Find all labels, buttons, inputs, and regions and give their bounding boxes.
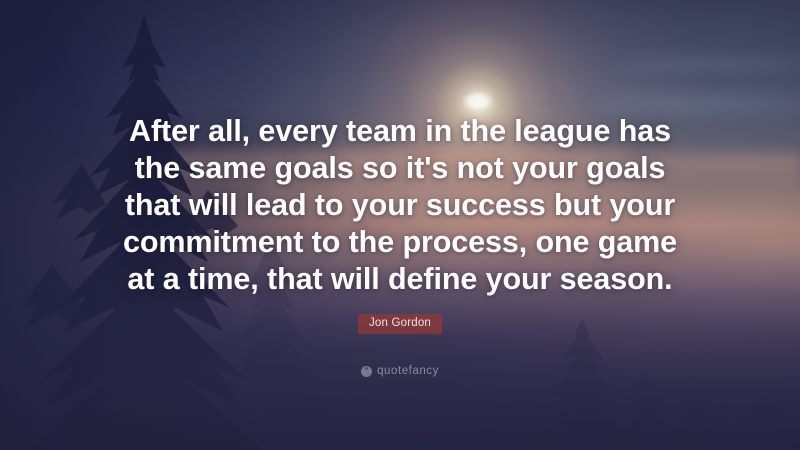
quote-line: the same goals so it's not your goals <box>0 150 800 187</box>
author-name-badge[interactable]: Jon Gordon <box>358 314 442 334</box>
watermark-label: quotefancy <box>377 365 439 377</box>
quote-line: After all, every team in the league has <box>0 113 800 150</box>
quote-line: at a time, that will define your season. <box>0 261 800 298</box>
quote-poster: After all, every team in the league has … <box>0 0 800 450</box>
quote-line: commitment to the process, one game <box>0 224 800 261</box>
quote-line: that will lead to your success but your <box>0 187 800 224</box>
pine-tree-far-right <box>660 368 800 450</box>
quote-mark-icon: “ <box>361 366 372 377</box>
author-attribution: Jon Gordon <box>0 313 800 334</box>
watermark[interactable]: “ quotefancy <box>0 365 800 377</box>
cloud-wisp <box>600 96 800 110</box>
cloud-wisp <box>620 58 800 69</box>
quote-text-block: After all, every team in the league has … <box>0 113 800 298</box>
